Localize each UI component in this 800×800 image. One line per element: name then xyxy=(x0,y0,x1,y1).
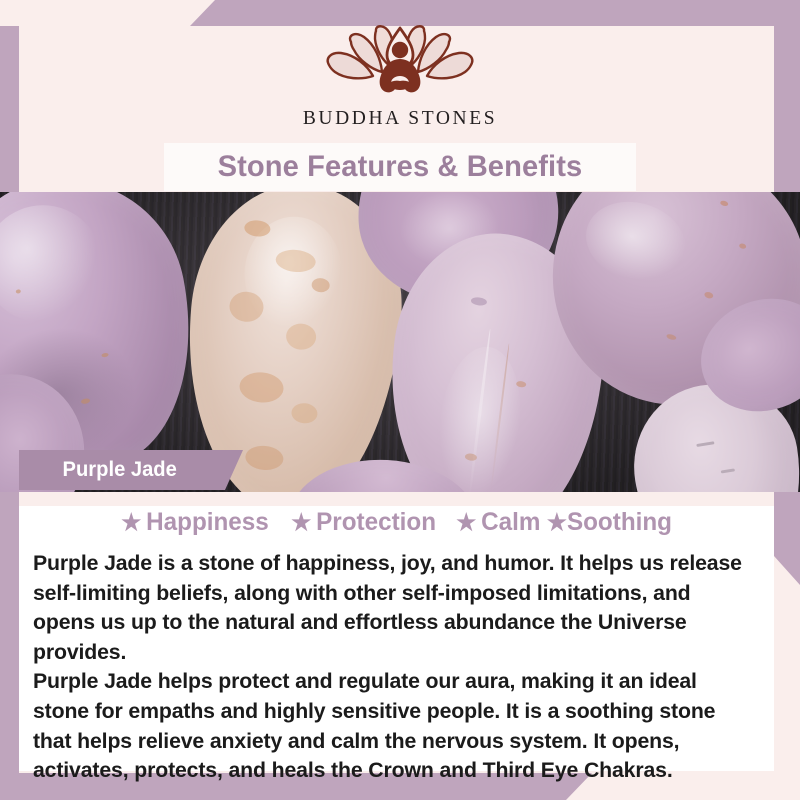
brand-name: BUDDHA STONES xyxy=(0,108,800,130)
benefit-item-protection: ★ Protection xyxy=(291,508,436,537)
benefits-list: ★ Happiness ★ Protection ★ Calm ★ Soothi… xyxy=(19,508,774,537)
description-paragraph-2: Purple Jade helps protect and regulate o… xyxy=(33,666,752,784)
benefit-label: Happiness xyxy=(147,508,270,537)
stone-description: Purple Jade is a stone of happiness, joy… xyxy=(33,548,752,785)
brand-logo: BUDDHA STONES xyxy=(0,22,800,130)
poster-header: BUDDHA STONES xyxy=(0,0,800,143)
stone-photo xyxy=(0,192,800,492)
benefit-label: Soothing xyxy=(567,508,672,537)
stone-name-label: Purple Jade xyxy=(22,458,177,482)
lotus-meditation-icon xyxy=(315,22,485,104)
star-icon: ★ xyxy=(456,511,476,534)
title-bar: Stone Features & Benefits xyxy=(164,143,636,191)
benefit-item-calm: ★ Calm xyxy=(456,508,540,537)
star-icon: ★ xyxy=(546,511,566,534)
star-icon: ★ xyxy=(122,511,142,534)
benefit-item-happiness: ★ Happiness xyxy=(122,508,270,537)
stone-name-banner: Purple Jade xyxy=(19,450,243,490)
panel-top-tint xyxy=(19,492,774,506)
benefit-label: Protection xyxy=(316,508,436,537)
content-panel: ★ Happiness ★ Protection ★ Calm ★ Soothi… xyxy=(19,492,774,771)
stone-info-poster: BUDDHA STONES Stone Features & Benefits xyxy=(0,0,800,800)
description-paragraph-1: Purple Jade is a stone of happiness, joy… xyxy=(33,548,752,666)
page-title: Stone Features & Benefits xyxy=(218,150,583,184)
benefit-label: Calm xyxy=(481,508,540,537)
benefit-item-soothing: ★ Soothing xyxy=(546,508,671,537)
star-icon: ★ xyxy=(291,511,311,534)
